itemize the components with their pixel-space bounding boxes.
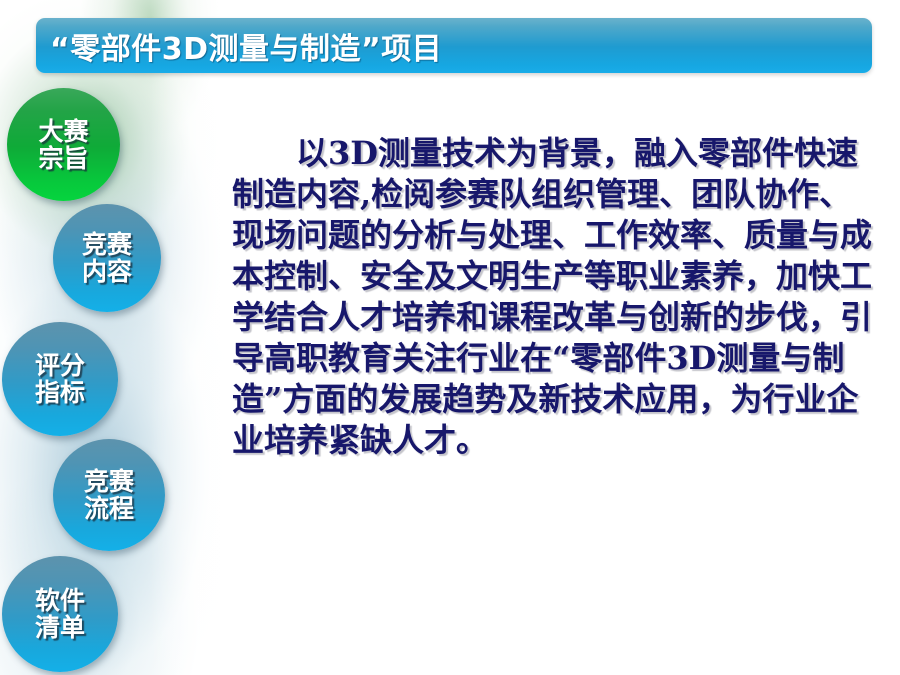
nav-circle-criteria[interactable]: 评分 指标 — [2, 322, 118, 436]
slide-title: “零部件3D测量与制造”项目 — [50, 24, 442, 68]
slide-canvas: “零部件3D测量与制造”项目 大赛 宗旨 竞赛 内容 评分 指标 竞赛 流程 软… — [0, 0, 900, 675]
nav-label-content-line2: 内容 — [82, 258, 132, 285]
nav-label-process-line2: 流程 — [84, 495, 134, 522]
nav-label-criteria-line1: 评分 — [35, 352, 85, 379]
nav-circle-content[interactable]: 竞赛 内容 — [53, 204, 161, 312]
nav-label-content-line1: 竞赛 — [82, 231, 132, 258]
nav-label-process-line1: 竞赛 — [84, 468, 134, 495]
nav-label-purpose-line2: 宗旨 — [38, 145, 88, 172]
nav-circle-process[interactable]: 竞赛 流程 — [53, 439, 165, 551]
slide-title-bar: “零部件3D测量与制造”项目 — [36, 18, 872, 73]
nav-label-criteria-line2: 指标 — [35, 379, 85, 406]
nav-label-software-line2: 清单 — [35, 614, 85, 641]
nav-circle-purpose[interactable]: 大赛 宗旨 — [7, 88, 120, 201]
nav-label-software-line1: 软件 — [35, 587, 85, 614]
slide-body-paragraph: 以3D测量技术为背景，融入零部件快速制造内容,检阅参赛队组织管理、团队协作、现场… — [232, 133, 872, 461]
nav-circle-software[interactable]: 软件 清单 — [2, 556, 118, 672]
nav-label-purpose-line1: 大赛 — [38, 118, 88, 145]
